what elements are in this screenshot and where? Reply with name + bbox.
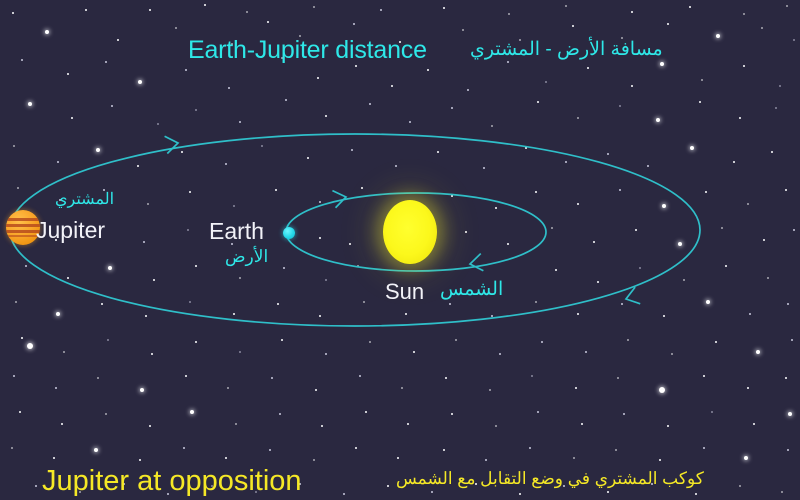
earth-label-english: Earth — [209, 220, 264, 243]
earth-dot-icon — [283, 227, 295, 239]
jupiter-orbit-direction-arrow-icon — [165, 136, 178, 153]
sun-disc-icon — [383, 200, 437, 264]
earth-orbit-direction-arrow-icon — [470, 254, 483, 271]
jupiter-orbit-direction-arrow-icon — [626, 287, 640, 304]
earth-orbit-direction-arrow-icon — [332, 191, 346, 208]
page-title-arabic: مسافة الأرض - المشتري — [470, 40, 663, 59]
sun-label-arabic: الشمس — [440, 280, 503, 299]
jupiter-label-arabic: المشتري — [55, 192, 114, 208]
jupiter-orbit — [10, 134, 700, 326]
earth-label-arabic: الأرض — [225, 248, 268, 265]
page-title-english: Earth-Jupiter distance — [188, 38, 427, 63]
caption-english: Jupiter at opposition — [42, 467, 302, 496]
jupiter-banded-disc-icon — [6, 210, 40, 245]
jupiter-label-english: Jupiter — [36, 219, 105, 242]
sun-label-english: Sun — [385, 281, 424, 303]
space-diagram-canvas: Earth-Jupiter distance مسافة الأرض - الم… — [0, 0, 800, 500]
caption-arabic: كوكب المشتري في وضع التقابل مع الشمس — [396, 470, 704, 487]
